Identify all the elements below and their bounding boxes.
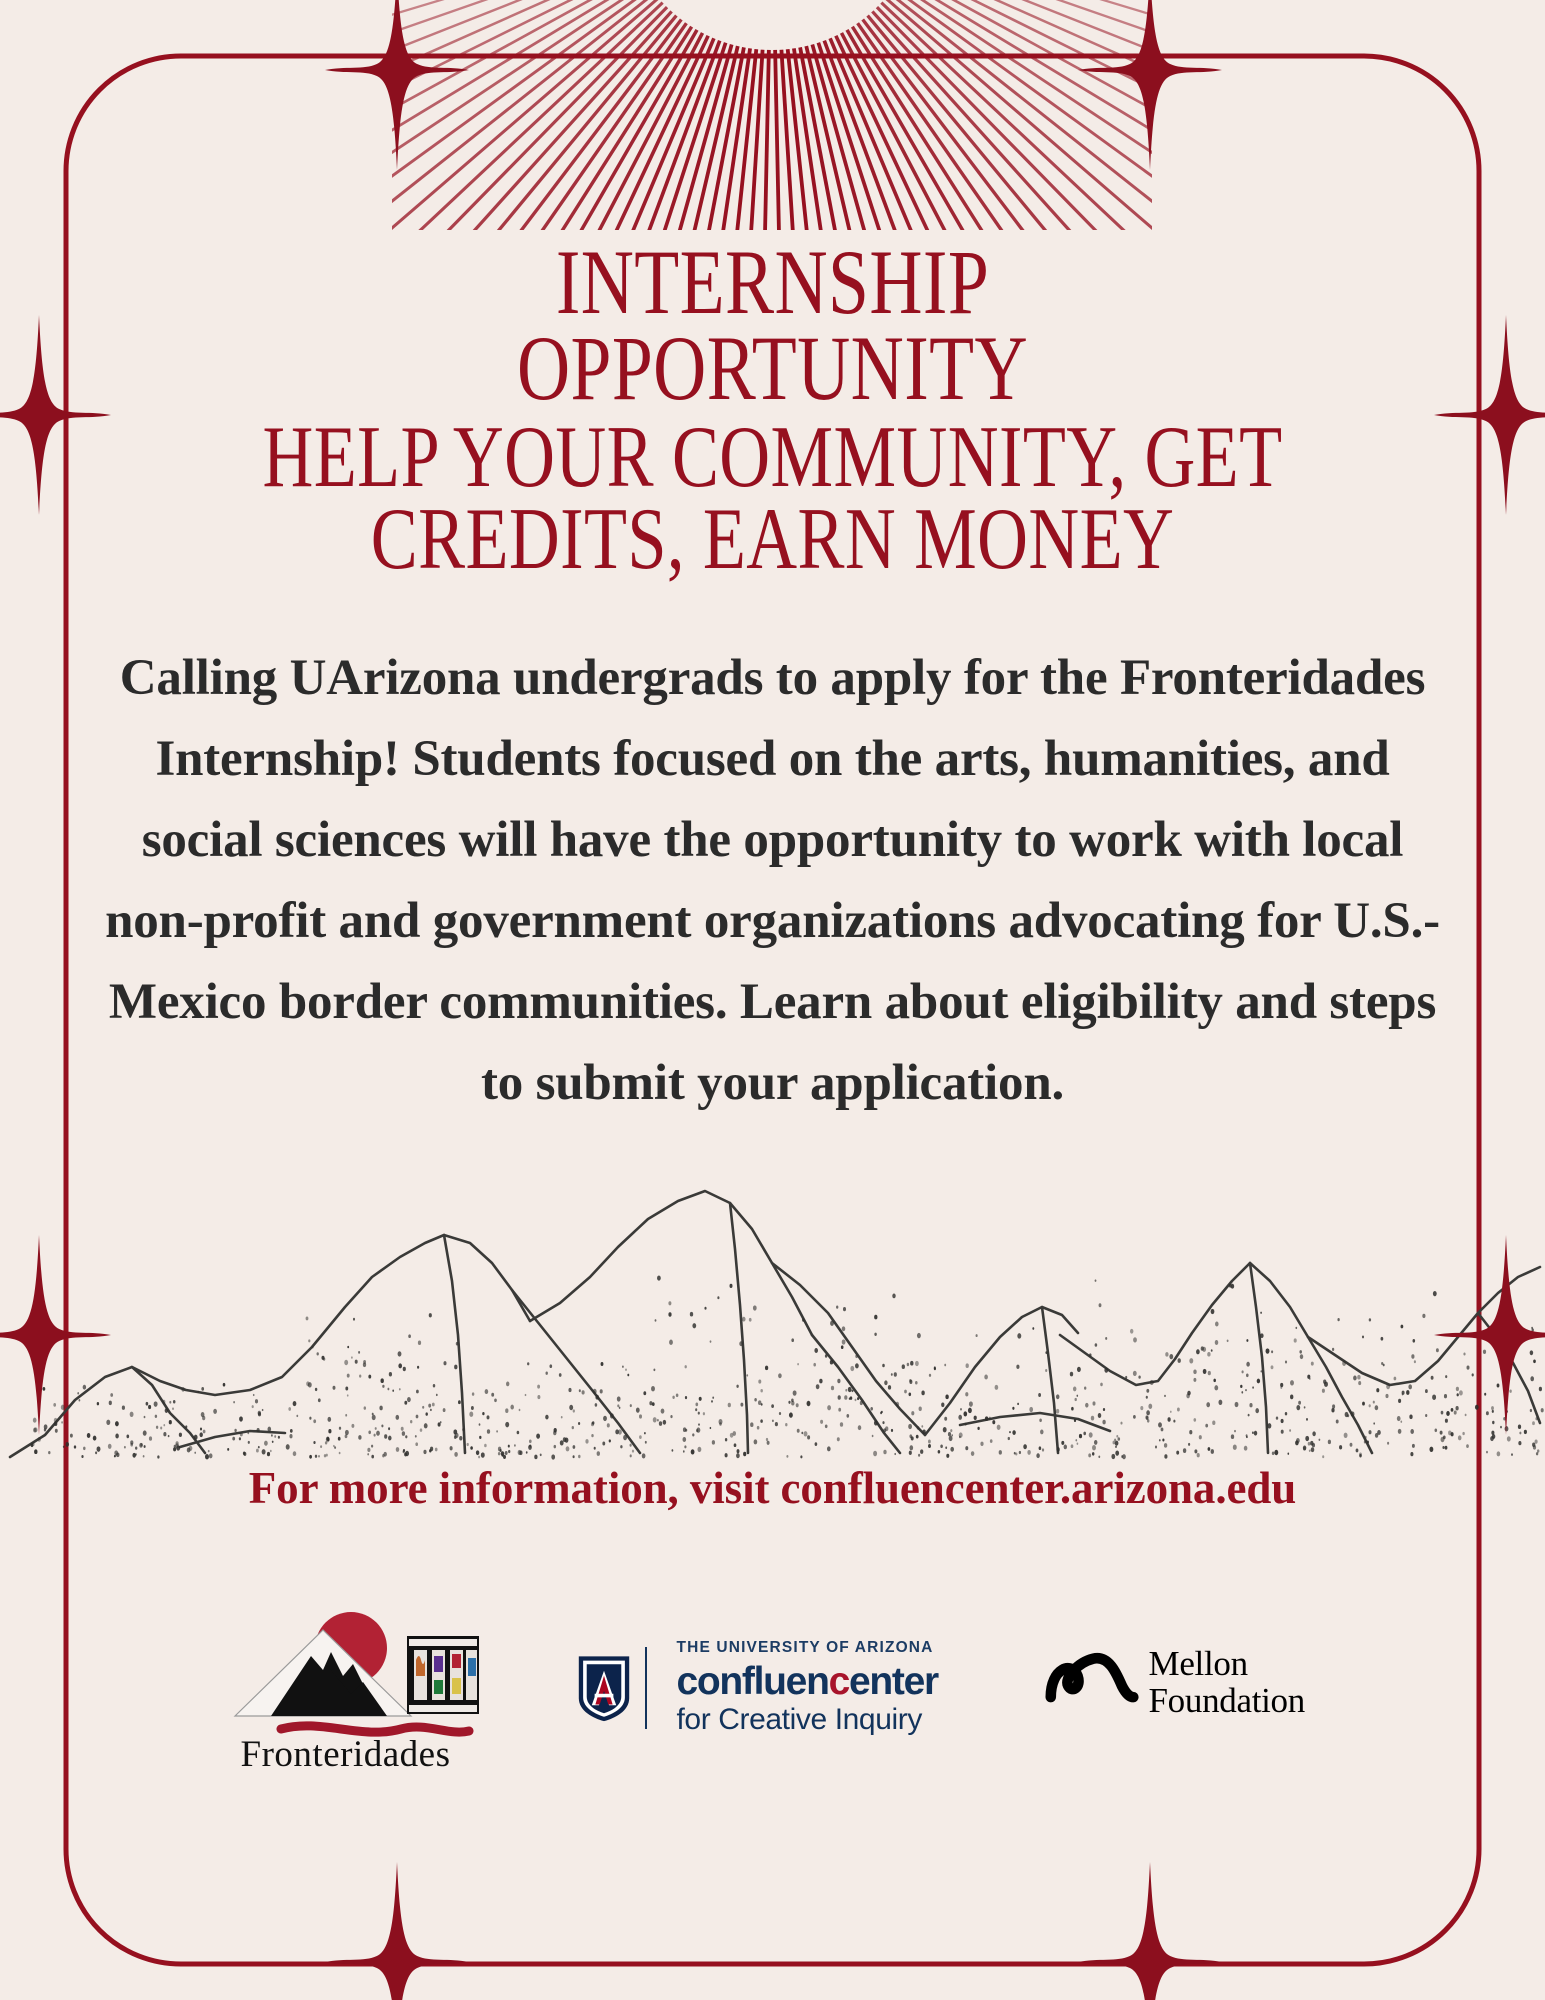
confluence-word-part1: confluen [677,1660,829,1703]
confluence-word-accent: c [829,1660,849,1703]
arizona-a-shield-icon [573,1652,635,1724]
poster-canvas: INTERNSHIP OPPORTUNITY HELP YOUR COMMUNI… [0,0,1545,2000]
fronteridades-mark-icon [211,1598,481,1738]
mellon-line-1: Mellon [1149,1645,1305,1683]
logo-mellon-foundation: Mellon Foundation [1045,1633,1335,1743]
confluence-word-part3: enter [849,1660,938,1703]
body-paragraph: Calling UArizona undergrads to apply for… [105,638,1440,1124]
sponsor-logo-row: Fronteridades THE UNIVERSITY OF ARIZONA … [0,1595,1545,1780]
mellon-line-2: Foundation [1149,1682,1305,1720]
logo-confluencenter: THE UNIVERSITY OF ARIZONA confluencenter… [573,1628,953,1748]
mellon-squiggle-icon [1045,1647,1141,1705]
logo-divider [645,1647,647,1729]
sunburst-decoration [392,0,1152,230]
sparkle-top-right [1078,0,1222,170]
mountain-illustration [0,1185,1545,1460]
confluence-wordmark: confluencenter [677,1662,938,1701]
sparkle-bottom-right [1078,1862,1222,2000]
sparkle-top-left [325,0,469,170]
poster-title: INTERNSHIP OPPORTUNITY HELP YOUR COMMUNI… [0,240,1545,581]
fronteridades-wordmark: Fronteridades [211,1733,481,1776]
mellon-wordmark: Mellon Foundation [1149,1645,1305,1721]
confluence-eyebrow: THE UNIVERSITY OF ARIZONA [677,1639,938,1657]
title-line-2: OPPORTUNITY [155,326,1391,412]
logo-fronteridades: Fronteridades [211,1598,481,1778]
call-to-action-text: For more information, visit confluencent… [0,1462,1545,1514]
sparkle-lower-right [1434,1235,1545,1435]
confluence-subtitle: for Creative Inquiry [677,1703,938,1737]
sparkle-bottom-left [325,1862,469,2000]
title-line-1: INTERNSHIP [155,240,1391,326]
title-line-4: CREDITS, EARN MONEY [155,499,1391,581]
sparkle-lower-left [0,1235,111,1435]
title-line-3: HELP YOUR COMMUNITY, GET [155,417,1391,499]
